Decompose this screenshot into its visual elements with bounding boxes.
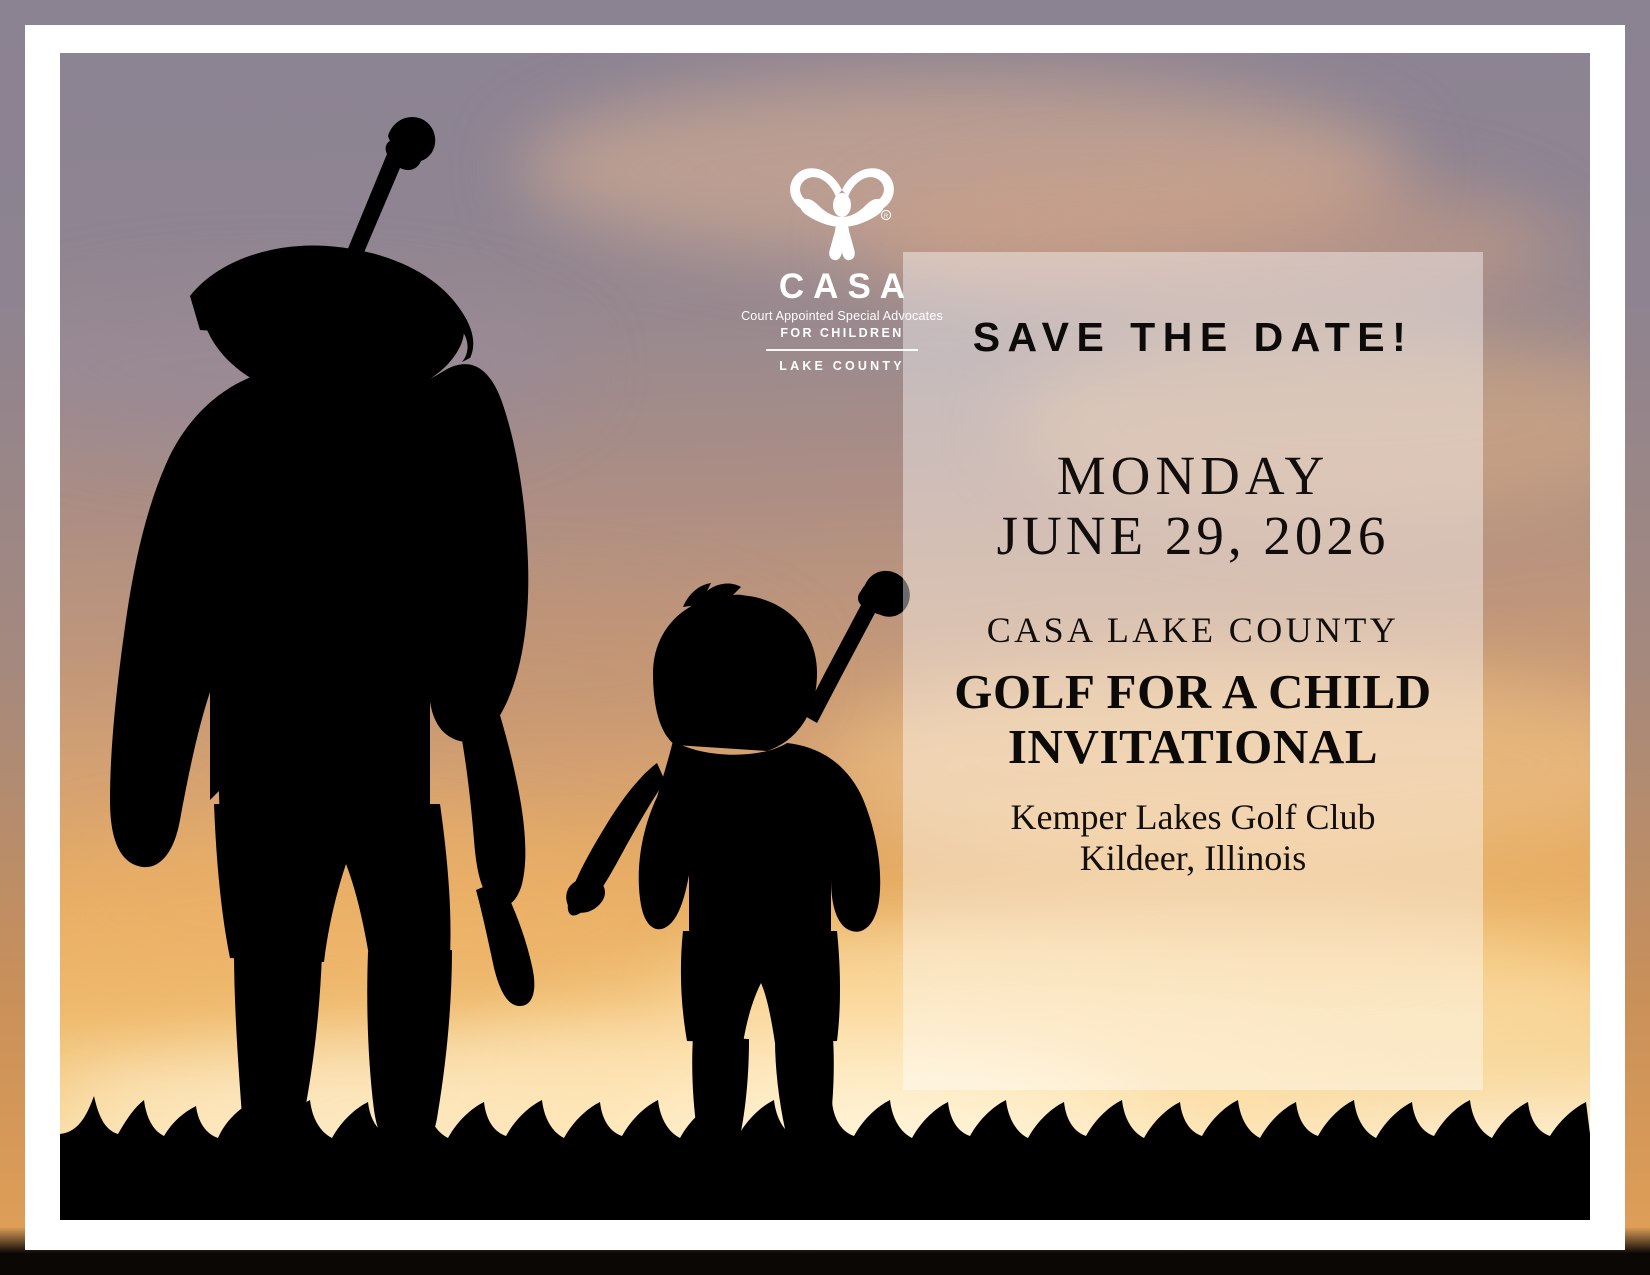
- ground-silhouette: [60, 1142, 1590, 1220]
- sunset-golf-photo: R CASA Court Appointed Special Advocates…: [60, 53, 1590, 1220]
- event-title: GOLF FOR A CHILD INVITATIONAL: [954, 665, 1431, 775]
- venue-block: Kemper Lakes Golf Club Kildeer, Illinois: [1011, 797, 1376, 881]
- organization-name: CASA LAKE COUNTY: [987, 609, 1399, 651]
- event-title-line-1: GOLF FOR A CHILD: [954, 665, 1431, 720]
- child-silhouette: [565, 545, 955, 1165]
- venue-location: Kildeer, Illinois: [1011, 838, 1376, 880]
- event-date-block: MONDAY JUNE 29, 2026: [997, 447, 1390, 567]
- event-day-of-week: MONDAY: [997, 447, 1390, 505]
- info-panel: SAVE THE DATE! MONDAY JUNE 29, 2026 CASA…: [903, 252, 1483, 1090]
- event-date: JUNE 29, 2026: [997, 505, 1390, 567]
- casa-divider: [766, 349, 918, 351]
- venue-name: Kemper Lakes Golf Club: [1011, 797, 1376, 839]
- casa-heart-child-icon: R: [782, 153, 902, 263]
- save-the-date-headline: SAVE THE DATE!: [973, 314, 1414, 361]
- svg-text:R: R: [884, 214, 889, 220]
- flyer-canvas: R CASA Court Appointed Special Advocates…: [0, 0, 1650, 1275]
- event-title-line-2: INVITATIONAL: [954, 720, 1431, 775]
- adult-golfer-silhouette: [70, 100, 630, 1165]
